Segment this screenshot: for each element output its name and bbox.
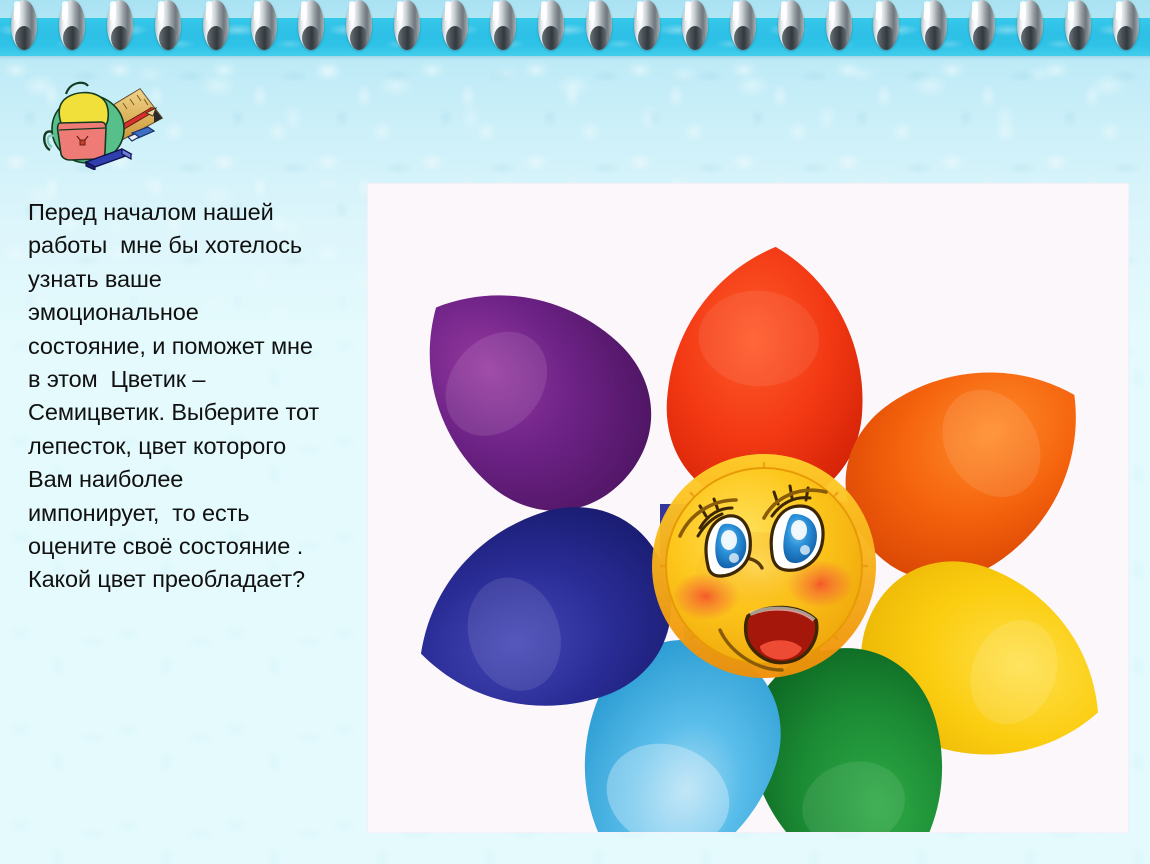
spiral-binding-rings (0, 0, 1150, 58)
paragraph-line: Семицветик. Выберите тот (28, 396, 358, 429)
backpack-icon (44, 83, 124, 163)
binding-ring (682, 0, 708, 50)
paragraph-line: Вам наиболее (28, 463, 358, 496)
paragraph-line: лепесток, цвет которого (28, 430, 358, 463)
flower-photo-panel (368, 184, 1128, 832)
binding-ring (107, 0, 133, 50)
binding-ring (394, 0, 420, 50)
binding-ring (346, 0, 372, 50)
binding-ring (1065, 0, 1091, 50)
binding-ring (1017, 0, 1043, 50)
binding-ring (203, 0, 229, 50)
paragraph-line: Какой цвет преобладает? (28, 563, 358, 596)
binding-ring (251, 0, 277, 50)
binding-ring (442, 0, 468, 50)
paragraph-line: оцените своё состояние . (28, 530, 358, 563)
binding-ring (59, 0, 85, 50)
slide-root: Перед началом нашейработы мне бы хотелос… (0, 0, 1150, 864)
paragraph-line: импонирует, то есть (28, 497, 358, 530)
binding-ring (730, 0, 756, 50)
binding-ring (538, 0, 564, 50)
paragraph-line: узнать ваше (28, 263, 358, 296)
school-supplies-clipart (36, 70, 186, 170)
binding-ring (826, 0, 852, 50)
paragraph-line: состояние, и поможет мне (28, 330, 358, 363)
flower-image (368, 184, 1128, 832)
paragraph-line: Перед началом нашей (28, 196, 358, 229)
body-paragraph: Перед началом нашейработы мне бы хотелос… (28, 196, 358, 597)
binding-ring (1113, 0, 1139, 50)
purple-petal[interactable] (372, 236, 690, 549)
paragraph-line: в этом Цветик – (28, 363, 358, 396)
binding-ring (298, 0, 324, 50)
binding-ring (873, 0, 899, 50)
binding-ring (778, 0, 804, 50)
paragraph-line: работы мне бы хотелось (28, 229, 358, 262)
binding-ring (155, 0, 181, 50)
binding-ring (586, 0, 612, 50)
binding-ring (11, 0, 37, 50)
paragraph-line: эмоциональное (28, 296, 358, 329)
binding-ring (921, 0, 947, 50)
binding-ring (490, 0, 516, 50)
binding-ring (634, 0, 660, 50)
binding-ring (969, 0, 995, 50)
